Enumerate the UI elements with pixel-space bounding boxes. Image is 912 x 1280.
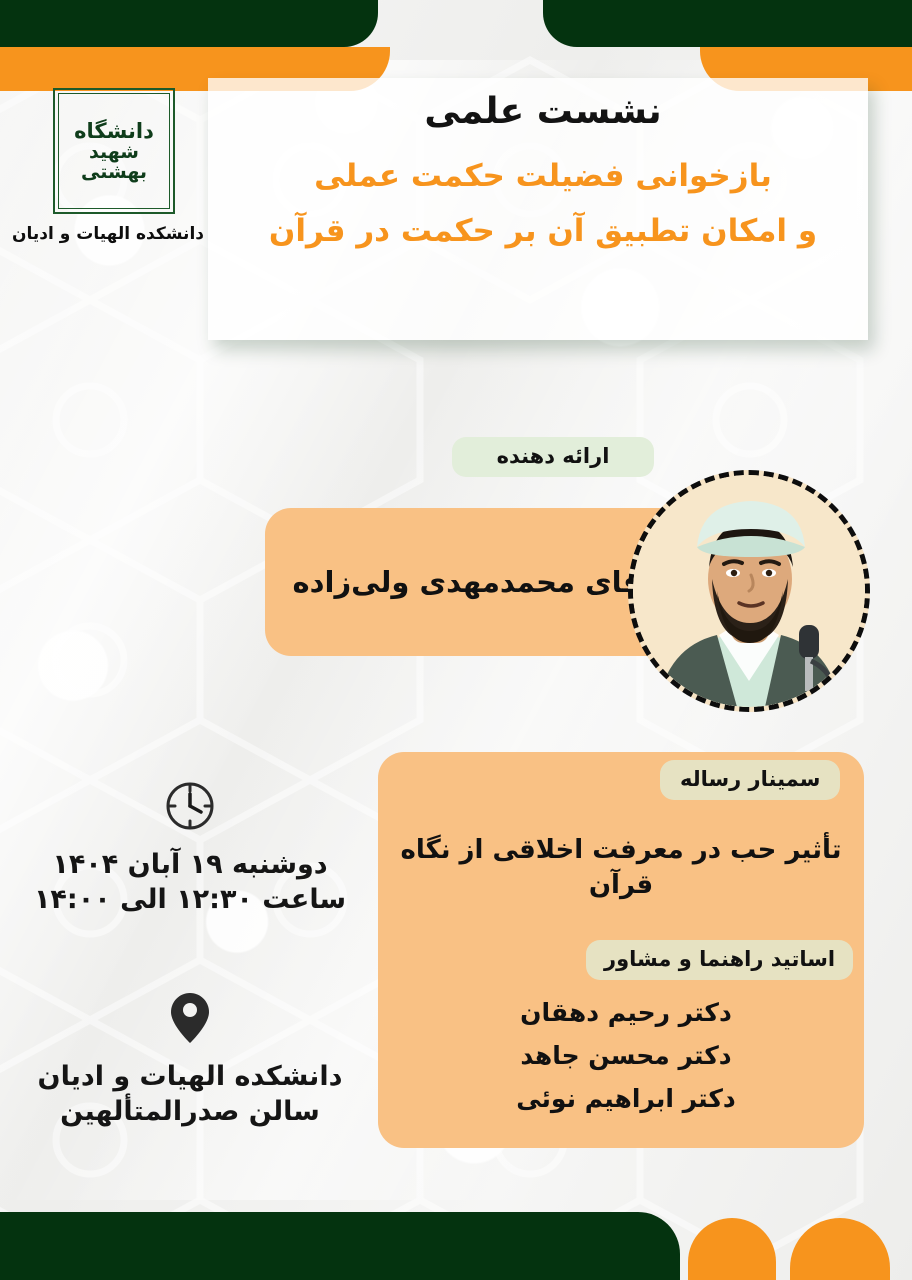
presenter-avatar [628,470,870,712]
advisor-name: دکتر ابراهیم نوئی [400,1086,852,1111]
faculty-caption: دانشکده الهیات و ادیان [24,224,204,244]
bottom-bar-green [0,1212,680,1280]
event-date: دوشنبه ۱۹ آبان ۱۴۰۴ [20,848,360,883]
venue-faculty: دانشکده الهیات و ادیان [20,1060,360,1095]
top-bar-green-right [543,0,912,47]
seminar-badge: سمینار رساله [660,760,840,800]
advisor-name: دکتر رحیم دهقان [400,1000,852,1025]
logo-word-beheshti: بهشتی [81,163,147,182]
event-title-line-1: بازخوانی فضیلت حکمت عملی [225,156,861,198]
event-time: ساعت ۱۲:۳۰ الی ۱۴:۰۰ [20,883,360,918]
header-text-group: نشست علمی بازخوانی فضیلت حکمت عملی و امک… [225,92,861,267]
logo-word-university: دانشگاه [74,121,154,142]
venue-block: دانشکده الهیات و ادیان سالن صدرالمتألهین [20,990,360,1129]
presenter-portrait-illustration [633,475,865,707]
clock-icon [20,778,360,834]
advisors-list: دکتر رحیم دهقان دکتر محسن جاهد دکتر ابرا… [400,1000,852,1129]
schedule-block: دوشنبه ۱۹ آبان ۱۴۰۴ ساعت ۱۲:۳۰ الی ۱۴:۰۰ [20,778,360,917]
presenter-name: آقای محمدمهدی ولی‌زاده [272,508,672,656]
seminar-title: تأثیر حب در معرفت اخلاقی از نگاه قرآن [390,833,852,903]
event-poster: نشست علمی بازخوانی فضیلت حکمت عملی و امک… [0,0,912,1280]
presenter-photo [633,475,865,707]
top-bar-green-left [0,0,378,47]
advisor-name: دکتر محسن جاهد [400,1043,852,1068]
event-kicker: نشست علمی [225,92,861,132]
logo-frame: دانشگاه شهید بهشتی [53,88,175,214]
logo-inner-frame: دانشگاه شهید بهشتی [58,93,170,209]
logo-word-shahid: شهید [89,143,139,162]
map-pin-icon [20,990,360,1046]
event-title-line-2: و امکان تطبیق آن بر حکمت در قرآن [225,211,861,253]
presenter-badge: ارائه دهنده [452,437,654,477]
venue-hall: سالن صدرالمتألهین [20,1095,360,1130]
university-logo: دانشگاه شهید بهشتی دانشکده الهیات و ادیا… [24,88,204,244]
advisors-badge: اساتید راهنما و مشاور [586,940,853,980]
